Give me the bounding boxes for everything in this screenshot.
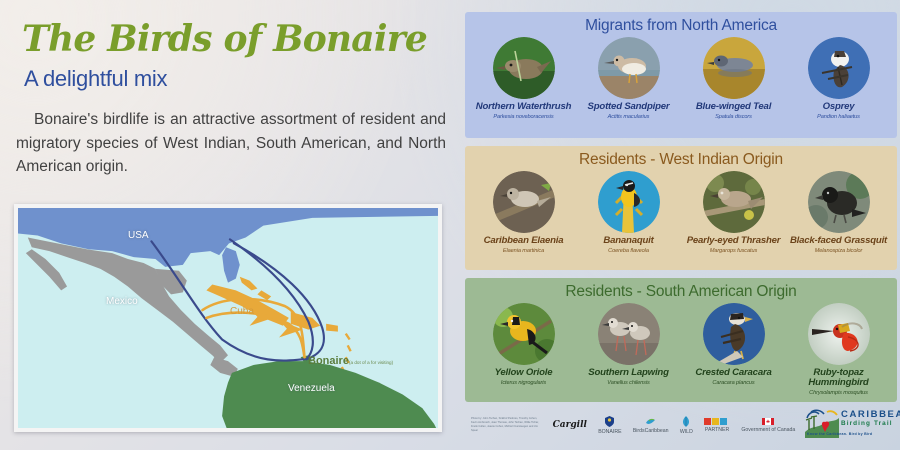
- bird-photo-bananaquit: [598, 171, 660, 233]
- bird-scientific-name: Melanospiza bicolor: [789, 248, 889, 254]
- bird-scientific-name: Actitis macularius: [579, 114, 679, 120]
- logo-bonaire-government-label: BONAIRE: [598, 429, 621, 435]
- page-subtitle: A delightful mix: [24, 66, 167, 92]
- bird-card-caribbean-elaenia[interactable]: Caribbean Elaenia Elaenia martinica: [474, 171, 574, 254]
- bird-photo-blue-winged-teal: [703, 37, 765, 99]
- bird-card-spotted-sandpiper[interactable]: Spotted Sandpiper Actitis macularius: [579, 37, 679, 120]
- logo-wild-conservation-label: WILD: [680, 429, 693, 435]
- left-column: The Birds of Bonaire A delightful mix Bo…: [0, 0, 460, 450]
- logo-birds-caribbean-label: BirdsCaribbean: [633, 428, 669, 434]
- bird-photo-black-faced-grassquit: [808, 171, 870, 233]
- bird-scientific-name: Pandion haliaetus: [789, 114, 889, 120]
- bird-name: Crested Caracara: [684, 368, 784, 378]
- sponsor-logos: Cargill BONAIRE BirdsCaribbean WILD PART…: [543, 416, 805, 435]
- bird-scientific-name: Margarops fuscatus: [684, 248, 784, 254]
- panel-migrants-north-america: Migrants from North America Northern Wat…: [465, 12, 897, 138]
- panel-residents-west-indian: Residents - West Indian Origin Caribbean…: [465, 146, 897, 270]
- bird-photo-northern-waterthrush: [493, 37, 555, 99]
- bird-scientific-name: Icterus nigrogularis: [474, 380, 574, 386]
- bird-photo-southern-lapwing: [598, 303, 660, 365]
- logo-birds-caribbean[interactable]: BirdsCaribbean: [633, 417, 669, 434]
- logo-cargill[interactable]: Cargill: [553, 420, 587, 430]
- colorbar-icon: [704, 418, 730, 425]
- bird-name: Northern Waterthrush: [474, 102, 574, 112]
- map-canvas: [18, 208, 438, 432]
- bird-card-pearly-eyed-thrasher[interactable]: Pearly-eyed Thrasher Margarops fuscatus: [684, 171, 784, 254]
- bird-photo-spotted-sandpiper: [598, 37, 660, 99]
- bird-name: Caribbean Elaenia: [474, 236, 574, 246]
- bird-photo-crested-caracara: [703, 303, 765, 365]
- logo-partner-ngo-label: PARTNER: [704, 427, 730, 433]
- bird-scientific-name: Parkesia noveboracensis: [474, 114, 574, 120]
- bird-card-southern-lapwing[interactable]: Southern Lapwing Vanellus chilensis: [579, 303, 679, 386]
- bird-card-bananaquit[interactable]: Bananaquit Coereba flaveola: [579, 171, 679, 254]
- cbt-wordmark-caribbean: CARIBBEAN: [841, 409, 900, 420]
- logo-wild-conservation[interactable]: WILD: [680, 416, 693, 435]
- panel-heading: Migrants from North America: [465, 12, 897, 35]
- bird-scientific-name: Chrysolampis mosquitus: [789, 390, 889, 396]
- photo-credits: Photo by: John Tschan, Sinkhof Pedross, …: [465, 417, 543, 433]
- canada-flag-icon: [762, 418, 774, 425]
- bird-photo-caribbean-elaenia: [493, 171, 555, 233]
- bird-card-ruby-topaz-hummingbird[interactable]: Ruby-topaz Hummingbird Chrysolampis mosq…: [789, 303, 889, 396]
- leaf-icon: [681, 416, 691, 427]
- right-column: Migrants from North America Northern Wat…: [460, 0, 900, 450]
- bird-row: Yellow Oriole Icterus nigrogularis South…: [465, 301, 897, 396]
- panel-heading: Residents - South American Origin: [465, 278, 897, 301]
- bird-card-northern-waterthrush[interactable]: Northern Waterthrush Parkesia noveborace…: [474, 37, 574, 120]
- bird-name: Black-faced Grassquit: [789, 236, 889, 246]
- bird-card-osprey[interactable]: Osprey Pandion haliaetus: [789, 37, 889, 120]
- bird-name: Bananaquit: [579, 236, 679, 246]
- bird-name: Blue-winged Teal: [684, 102, 784, 112]
- logo-government-of-canada-label: Government of Canada: [741, 427, 795, 433]
- migration-map: USA Mexico Cuba Venezuela Bonaire(a dot …: [14, 204, 442, 432]
- bird-icon: [645, 417, 656, 426]
- bird-scientific-name: Caracara plancus: [684, 380, 784, 386]
- bird-card-black-faced-grassquit[interactable]: Black-faced Grassquit Melanospiza bicolo…: [789, 171, 889, 254]
- bird-photo-ruby-topaz-hummingbird: [808, 303, 870, 365]
- logo-caribbean-birding-trail[interactable]: CARIBBEAN Birding Trail Know the Caribbe…: [805, 406, 897, 444]
- bird-name: Ruby-topaz Hummingbird: [789, 368, 889, 389]
- bird-row: Northern Waterthrush Parkesia noveborace…: [465, 35, 897, 120]
- panel-heading: Residents - West Indian Origin: [465, 146, 897, 169]
- bird-photo-pearly-eyed-thrasher: [703, 171, 765, 233]
- bird-name: Pearly-eyed Thrasher: [684, 236, 784, 246]
- bird-scientific-name: Elaenia martinica: [474, 248, 574, 254]
- shield-icon: [605, 416, 614, 427]
- bird-photo-yellow-oriole: [493, 303, 555, 365]
- bird-card-yellow-oriole[interactable]: Yellow Oriole Icterus nigrogularis: [474, 303, 574, 386]
- page-title: The Birds of Bonaire: [22, 18, 427, 60]
- cbt-wordmark-birding-trail: Birding Trail: [841, 420, 900, 427]
- bird-name: Yellow Oriole: [474, 368, 574, 378]
- bird-scientific-name: Spatula discors: [684, 114, 784, 120]
- bird-name: Southern Lapwing: [579, 368, 679, 378]
- bird-row: Caribbean Elaenia Elaenia martinica Bana…: [465, 169, 897, 254]
- logo-partner-ngo[interactable]: PARTNER: [704, 418, 730, 433]
- bird-card-crested-caracara[interactable]: Crested Caracara Caracara plancus: [684, 303, 784, 386]
- intro-paragraph: Bonaire's birdlife is an attractive asso…: [16, 108, 446, 179]
- bird-scientific-name: Coereba flaveola: [579, 248, 679, 254]
- bird-name: Spotted Sandpiper: [579, 102, 679, 112]
- footer-bar: Photo by: John Tschan, Sinkhof Pedross, …: [465, 404, 897, 446]
- bird-photo-osprey: [808, 37, 870, 99]
- bird-scientific-name: Vanellus chilensis: [579, 380, 679, 386]
- logo-bonaire-government[interactable]: BONAIRE: [598, 416, 621, 435]
- bird-name: Osprey: [789, 102, 889, 112]
- bird-card-blue-winged-teal[interactable]: Blue-winged Teal Spatula discors: [684, 37, 784, 120]
- cbt-tagline: Know the Caribbean. Bird by Bird: [807, 432, 872, 436]
- logo-government-of-canada[interactable]: Government of Canada: [741, 418, 795, 433]
- panel-residents-south-american: Residents - South American Origin Yellow…: [465, 278, 897, 402]
